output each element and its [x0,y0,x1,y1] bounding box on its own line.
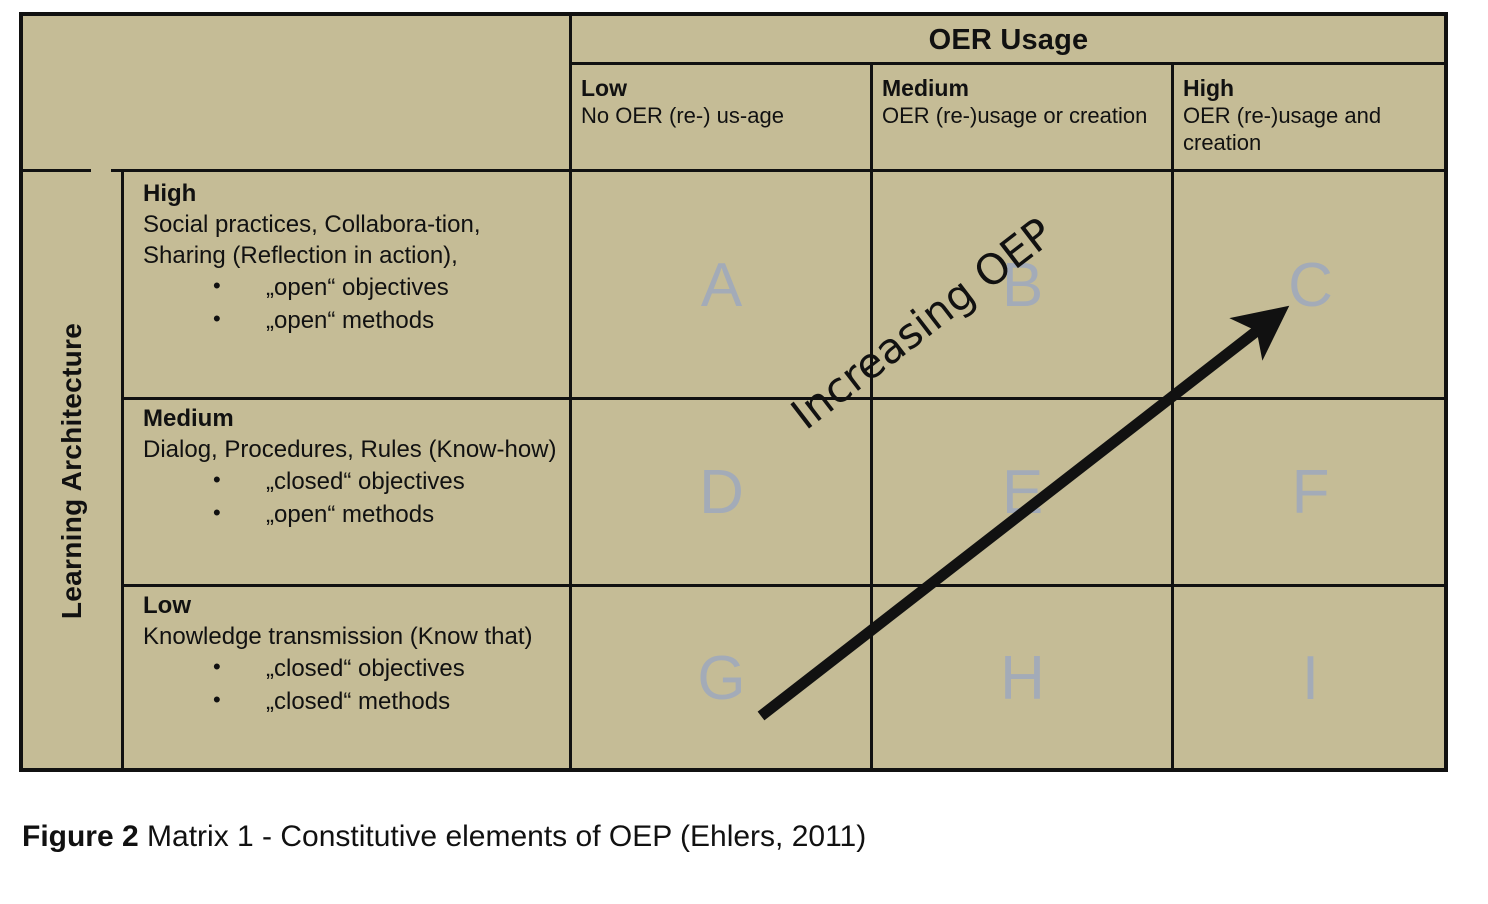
matrix-cell-h: H [872,586,1173,770]
list-item: „open“ methods [143,304,563,337]
column-header-medium-description: OER (re-)usage or creation [882,102,1159,129]
column-header-high-level: High [1183,74,1438,102]
gridline-v-axis [121,169,124,770]
figure-caption: Figure 2 Matrix 1 - Constitutive element… [22,820,866,854]
matrix-cell-g: G [571,586,872,770]
matrix-cell-c: C [1173,172,1448,399]
gridline-h-header [571,62,1446,65]
row-header-high-bullets: „open“ objectives „open“ methods [143,271,563,337]
row-axis-title-text: Learning Architecture [56,323,88,619]
row-header-high: High Social practices, Collabora-tion, S… [131,174,571,337]
figure-caption-text: Matrix 1 - Constitutive elements of OEP … [139,820,867,853]
row-header-medium: Medium Dialog, Procedures, Rules (Know-h… [131,399,571,531]
column-header-medium: Medium OER (re-)usage or creation [872,68,1169,168]
row-axis-title: Learning Architecture [23,172,121,770]
row-header-low-description: Knowledge transmission (Know that) [143,621,563,652]
column-header-high-description: OER (re-)usage and creation [1183,102,1438,156]
column-axis-title: OER Usage [571,18,1446,62]
row-header-medium-bullets: „closed“ objectives „open“ methods [143,465,563,531]
row-header-medium-description: Dialog, Procedures, Rules (Know-how) [143,434,563,465]
column-header-low-level: Low [581,74,858,102]
column-header-low-description: No OER (re-) us-age [581,102,858,129]
matrix-cell-b: B [872,172,1173,399]
list-item: „open“ methods [143,498,563,531]
list-item: „closed“ objectives [143,652,563,685]
row-header-medium-level: Medium [143,403,563,434]
row-header-high-level: High [143,178,563,209]
list-item: „closed“ methods [143,685,563,718]
row-header-low: Low Knowledge transmission (Know that) „… [131,586,571,718]
figure-caption-label: Figure 2 [22,820,139,853]
matrix-cell-f: F [1173,399,1448,586]
list-item: „open“ objectives [143,271,563,304]
matrix-cell-e: E [872,399,1173,586]
column-header-low: Low No OER (re-) us-age [571,68,868,168]
list-item: „closed“ objectives [143,465,563,498]
column-header-medium-level: Medium [882,74,1159,102]
row-header-high-description: Social practices, Collabora-tion, Sharin… [143,209,563,271]
matrix-cell-i: I [1173,586,1448,770]
row-header-low-level: Low [143,590,563,621]
figure-container: OER Usage Low No OER (re-) us-age Medium… [0,0,1488,904]
column-header-high: High OER (re-)usage and creation [1173,68,1448,168]
oep-matrix: OER Usage Low No OER (re-) us-age Medium… [19,12,1448,772]
row-header-low-bullets: „closed“ objectives „closed“ methods [143,652,563,718]
